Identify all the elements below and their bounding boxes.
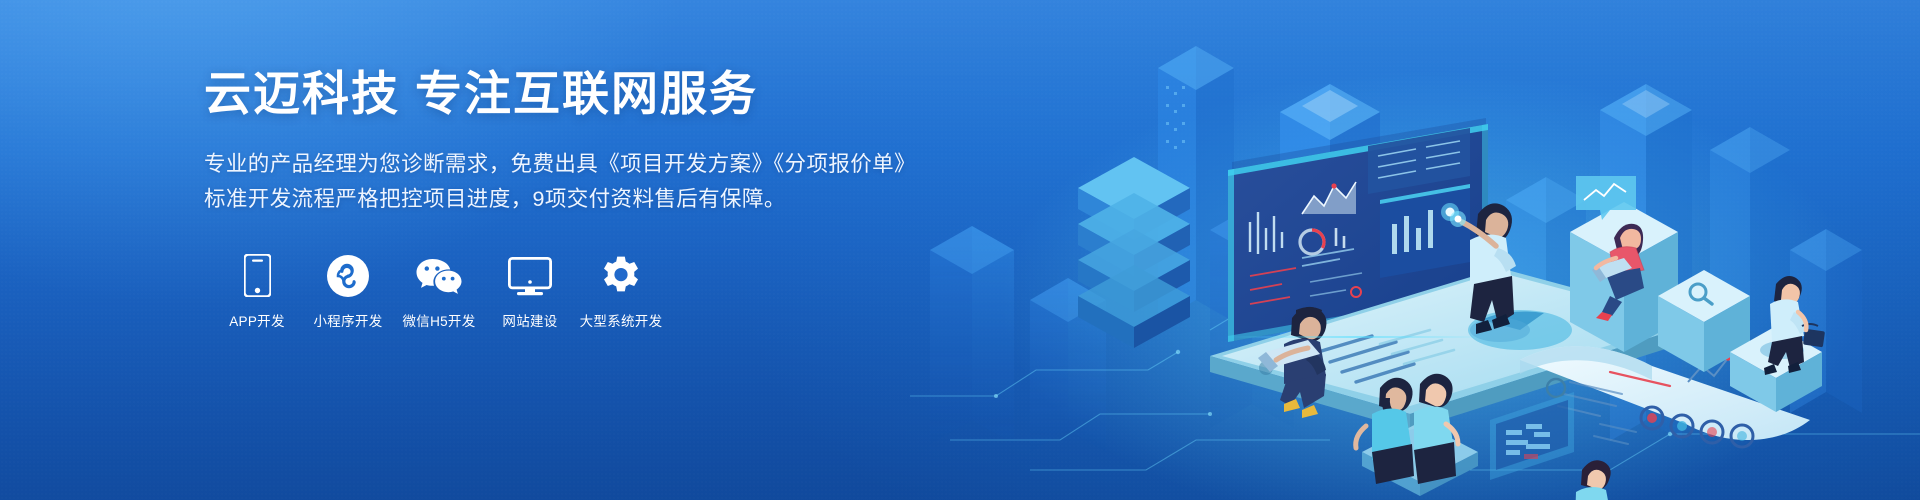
- hero-copy: 云迈科技 专注互联网服务 专业的产品经理为您诊断需求，免费出具《项目开发方案》《…: [204, 66, 924, 330]
- monitor-icon: [508, 253, 552, 297]
- hero-banner: 云迈科技 专注互联网服务 专业的产品经理为您诊断需求，免费出具《项目开发方案》《…: [0, 0, 1920, 500]
- service-label: 微信H5开发: [402, 310, 475, 330]
- service-list: APP开发 小程序开发: [220, 253, 924, 330]
- wechat-icon: [415, 253, 463, 297]
- gear-icon: [600, 253, 642, 297]
- subtitle-line-2: 标准开发流程严格把控项目进度，9项交付资料售后有保障。: [204, 182, 924, 217]
- hero-subtitle: 专业的产品经理为您诊断需求，免费出具《项目开发方案》《分项报价单》 标准开发流程…: [204, 147, 924, 217]
- service-item-system[interactable]: 大型系统开发: [584, 253, 658, 330]
- server-stack: [1078, 157, 1190, 348]
- subtitle-line-1: 专业的产品经理为您诊断需求，免费出具《项目开发方案》《分项报价单》: [204, 147, 924, 182]
- page-title: 云迈科技 专注互联网服务: [204, 66, 924, 121]
- service-label: APP开发: [229, 310, 285, 330]
- service-label: 大型系统开发: [580, 310, 663, 330]
- service-item-wechat[interactable]: 微信H5开发: [402, 253, 476, 330]
- service-item-website[interactable]: 网站建设: [493, 253, 567, 330]
- service-item-app[interactable]: APP开发: [220, 253, 294, 330]
- hero-illustration: [910, 0, 1920, 500]
- service-item-miniprogram[interactable]: 小程序开发: [311, 253, 385, 330]
- phone-icon: [244, 253, 271, 297]
- service-label: 网站建设: [502, 310, 557, 330]
- service-label: 小程序开发: [314, 310, 383, 330]
- miniprogram-icon: [327, 253, 369, 297]
